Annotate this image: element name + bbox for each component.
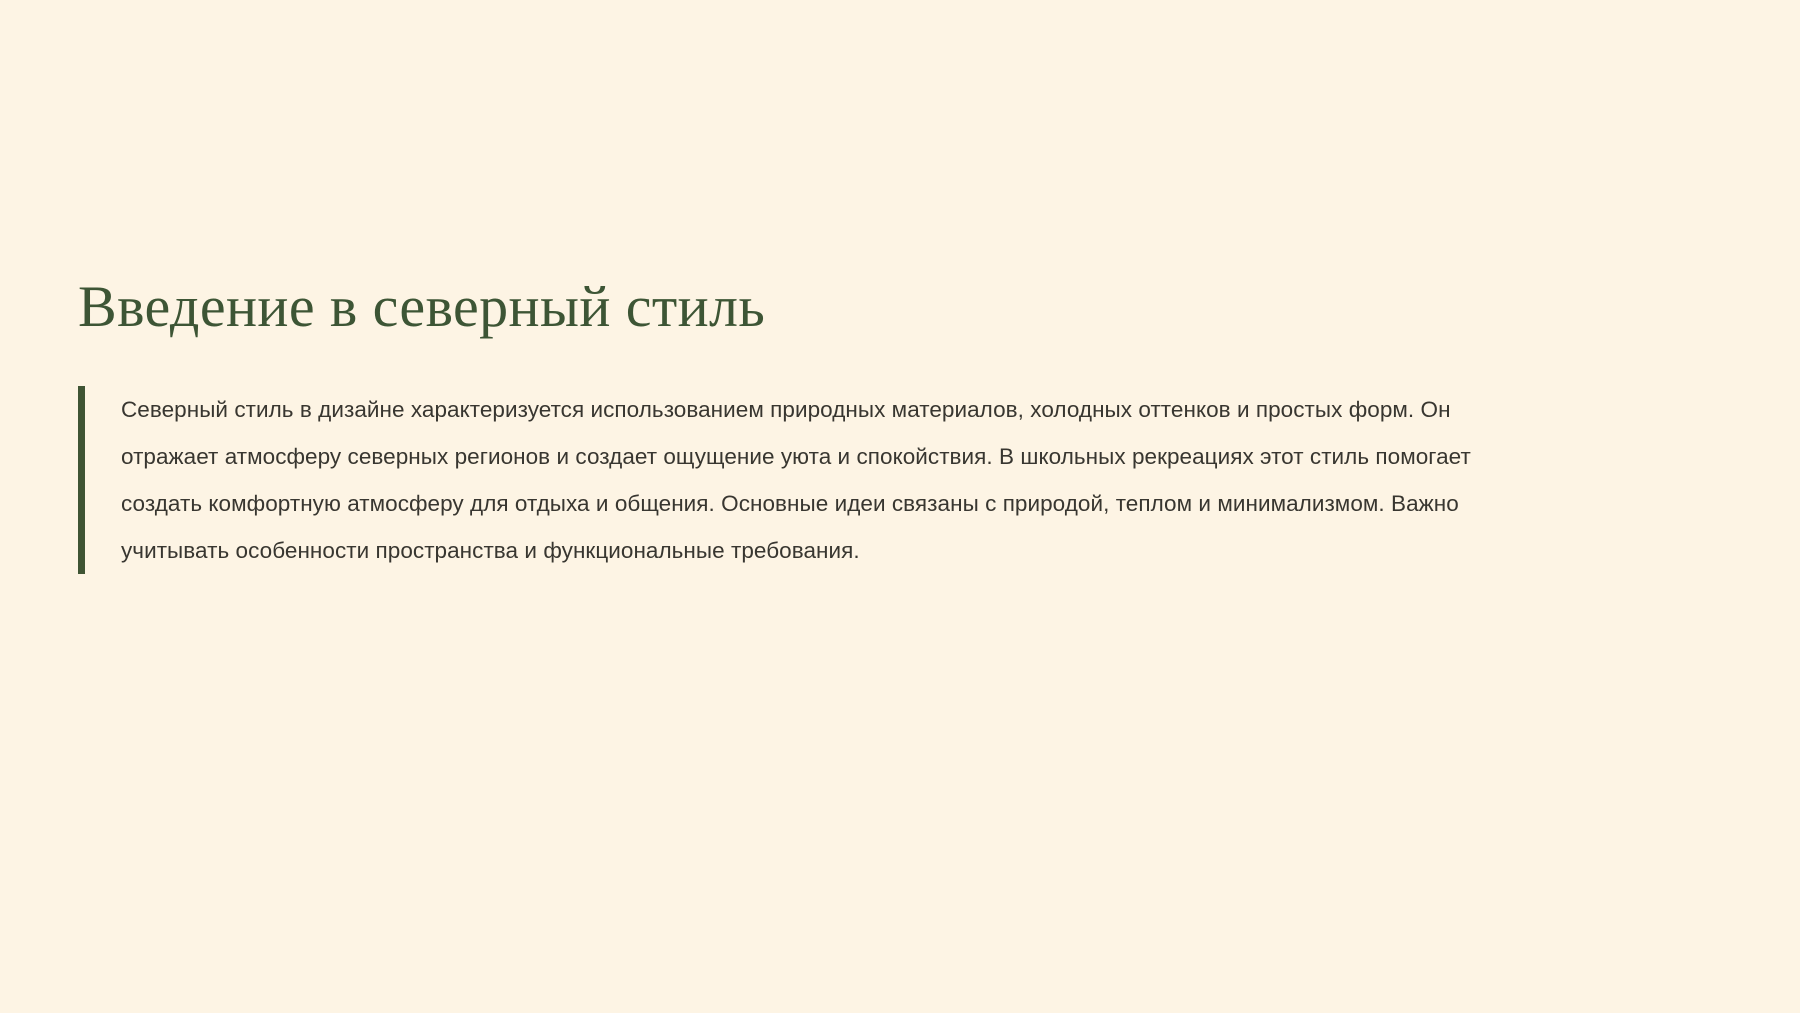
body-paragraph: Северный стиль в дизайне характеризуется… bbox=[121, 386, 1498, 574]
page-title: Введение в северный стиль bbox=[78, 275, 1718, 340]
slide-canvas: Введение в северный стиль Северный стиль… bbox=[0, 0, 1800, 1013]
accent-bar-text-block: Северный стиль в дизайне характеризуется… bbox=[78, 386, 1498, 574]
slide-content: Введение в северный стиль Северный стиль… bbox=[78, 275, 1718, 574]
